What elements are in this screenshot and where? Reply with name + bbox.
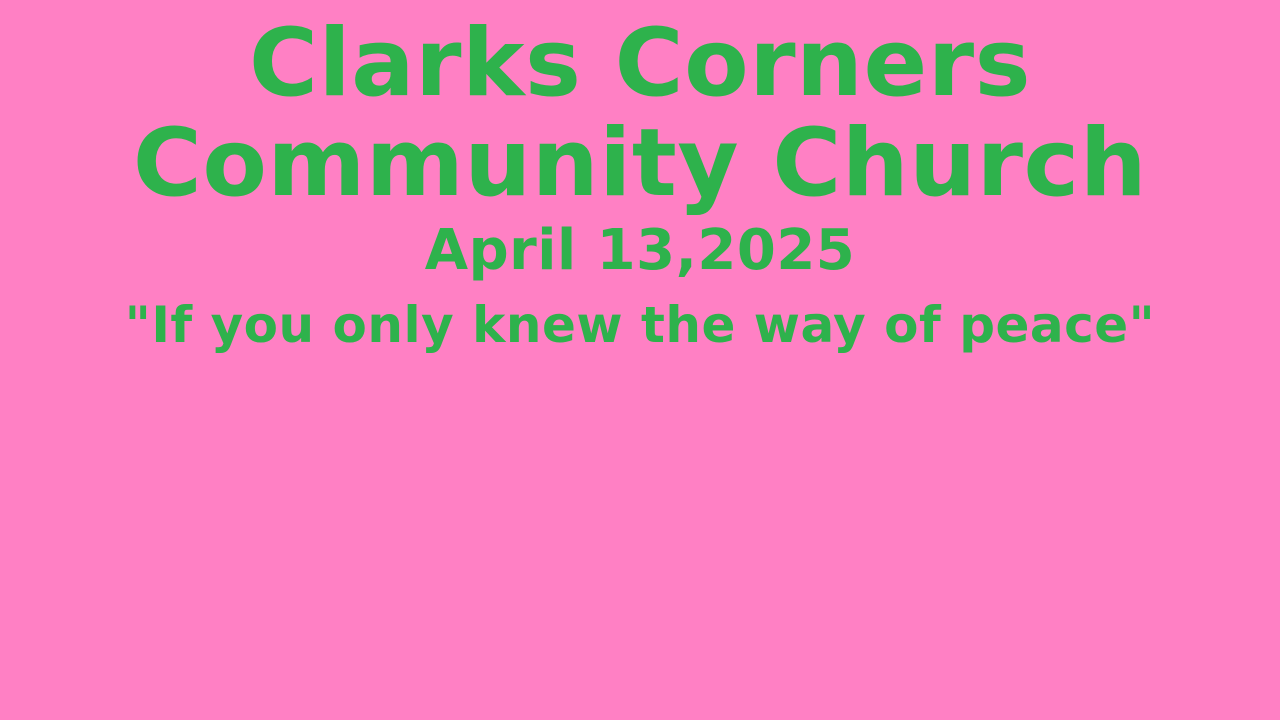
slide-canvas: Clarks Corners Community Church April 13…: [0, 0, 1280, 720]
slide-text-block: Clarks Corners Community Church April 13…: [0, 0, 1280, 362]
page-title: Clarks Corners Community Church: [0, 0, 1280, 214]
slide-empty-area: [0, 370, 1280, 720]
service-date: April 13,2025: [0, 214, 1280, 288]
sermon-theme-quote: "If you only knew the way of peace": [0, 288, 1280, 362]
